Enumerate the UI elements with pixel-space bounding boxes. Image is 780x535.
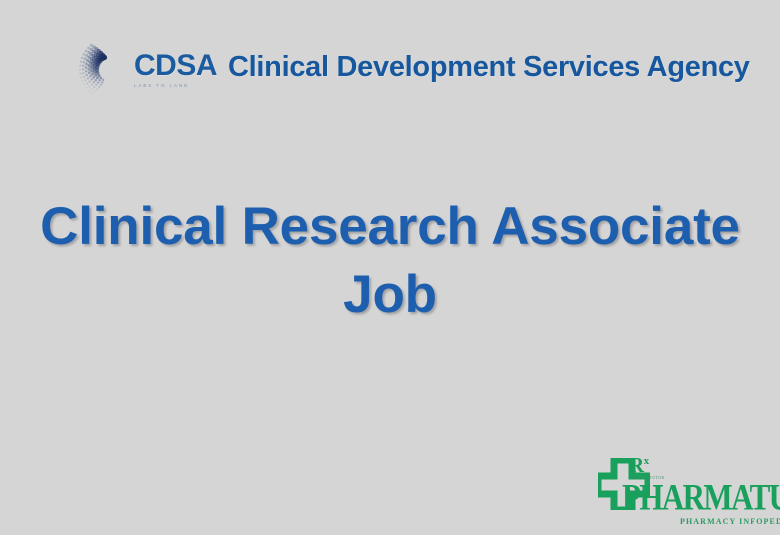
cdsa-acronym-group: CDSA LABS TO LAND (134, 38, 217, 100)
cdsa-brand-header: CDSA LABS TO LAND Clinical Development S… (70, 38, 750, 100)
slide-title-line-1: Clinical Research Associate (0, 193, 780, 261)
slide-canvas: CDSA LABS TO LAND Clinical Development S… (0, 0, 780, 535)
slide-title-line-2: Job (0, 261, 780, 329)
rx-symbol: Rx (629, 455, 649, 476)
rx-letter: R (629, 453, 644, 477)
pharmatutor-logo: Rx PHARMATUTOR PHARMATUTOR PHARMACY INFO… (598, 455, 780, 527)
cdsa-dotted-swirl-logo-icon (70, 38, 132, 100)
slide-title-block: Clinical Research Associate Job (0, 193, 780, 329)
cdsa-acronym-tagline: LABS TO LAND (134, 83, 217, 88)
cdsa-acronym: CDSA (134, 51, 217, 81)
organization-name: Clinical Development Services Agency (228, 53, 750, 85)
pharmatutor-tagline: PHARMACY INFOPEDIA (680, 517, 780, 526)
rx-superscript: x (644, 455, 649, 467)
pharmatutor-wordmark: PHARMATUTOR (622, 479, 780, 516)
